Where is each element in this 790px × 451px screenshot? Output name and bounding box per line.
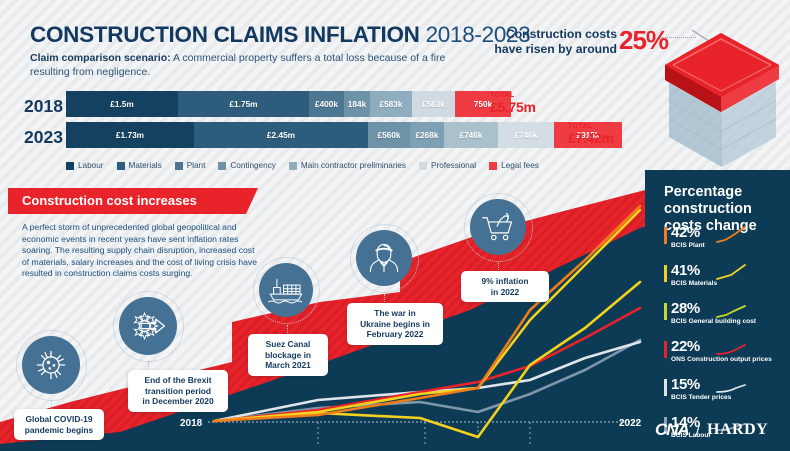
- timeline-callout-ukraine[interactable]: The war in Ukraine begins in February 20…: [347, 303, 443, 345]
- soldier-icon: [356, 230, 412, 286]
- stat-color-bar-plant: [664, 227, 667, 244]
- bar-segment-professional-2018: £583k: [412, 91, 455, 117]
- bar-segment-contingency-2023: £268k: [410, 122, 444, 148]
- legend-swatch-professional: [419, 162, 427, 170]
- brand-logo: CNA / HARDY: [655, 420, 768, 440]
- legend-item-preliminaries: Main contractor preliminaries: [289, 161, 406, 170]
- timeline-callout-brexit[interactable]: End of the Brexit transition period in D…: [128, 370, 228, 412]
- bar-segment-materials-2023: £2.45m: [194, 122, 368, 148]
- legend-swatch-legal: [489, 162, 497, 170]
- stat-percent-general-building: 28%: [671, 300, 700, 317]
- timeline-callout-suez[interactable]: Suez Canal blockage in March 2021: [248, 334, 328, 376]
- bar-year-label-2023: 2023: [24, 127, 63, 148]
- legend-item-plant: Plant: [175, 161, 206, 170]
- legend-label-legal: Legal fees: [501, 161, 539, 170]
- cost-increases-heading: Construction cost increases: [22, 193, 197, 208]
- bar-segment-preliminaries-2018: £583k: [370, 91, 412, 117]
- timeline-callout-inflation[interactable]: 9% inflation in 2022: [461, 271, 549, 302]
- bar-segment-professional-2023: £746k: [498, 122, 554, 148]
- legend-label-materials: Materials: [129, 161, 162, 170]
- cost-increases-body: A perfect storm of unprecedented global …: [22, 222, 260, 280]
- timeline-node-ukraine[interactable]: [350, 224, 420, 294]
- legend-swatch-preliminaries: [289, 162, 297, 170]
- eu-arrow-icon: [119, 297, 177, 355]
- infographic-canvas: 2018 2022 CONSTRUCTION CLAIMS INFLATION …: [0, 0, 790, 451]
- stat-color-bar-general-building: [664, 303, 667, 320]
- page-title: CONSTRUCTION CLAIMS INFLATION 2018-2023: [30, 22, 500, 48]
- legend-label-preliminaries: Main contractor preliminaries: [301, 161, 406, 170]
- legend-label-contingency: Contingency: [230, 161, 276, 170]
- bar-total-label-2023: TOTAL: [568, 123, 614, 130]
- bar-total-label-2018: TOTAL: [490, 92, 536, 99]
- stat-sparkline-tender-prices: [716, 382, 746, 395]
- legend-item-materials: Materials: [117, 161, 162, 170]
- stat-percent-plant: 42%: [671, 224, 700, 241]
- stat-sparkline-general-building: [716, 304, 746, 320]
- stacked-bar-2018: £1.5m £1.75m £400k 184k £583k £583k 750k: [66, 91, 511, 117]
- logo-separator: /: [696, 422, 700, 439]
- bar-total-value-2018: £5.75m: [490, 99, 536, 115]
- shopping-cart-icon: [470, 199, 526, 255]
- stat-label-tender-prices: BCIS Tender prices: [671, 394, 731, 401]
- axis-label-2018: 2018: [180, 418, 202, 429]
- bar-segment-preliminaries-2023: £746k: [444, 122, 498, 148]
- bar-segment-materials-2018: £1.75m: [178, 91, 309, 117]
- page-title-main: CONSTRUCTION CLAIMS INFLATION: [30, 22, 420, 47]
- bar-segment-plant-2023: £560k: [368, 122, 410, 148]
- legend-swatch-labour: [66, 162, 74, 170]
- costs-risen-statement: Construction costs have risen by around: [487, 27, 617, 56]
- stacked-bar-2023: £1.73m £2.45m £560k £268k £746k £746k £9…: [66, 122, 622, 148]
- bar-total-2018: TOTAL £5.75m: [490, 92, 536, 115]
- legend-item-contingency: Contingency: [218, 161, 276, 170]
- timeline-node-inflation[interactable]: [464, 193, 534, 263]
- hardy-logo-text: HARDY: [707, 421, 768, 439]
- bar-chart-legend: Labour Materials Plant Contingency Main …: [66, 161, 552, 170]
- legend-swatch-contingency: [218, 162, 226, 170]
- stat-percent-ons-output: 22%: [671, 338, 700, 355]
- bar-year-label-2018: 2018: [24, 96, 63, 117]
- axis-label-2022: 2022: [619, 418, 641, 429]
- timeline-node-brexit[interactable]: [113, 291, 185, 363]
- bar-segment-plant-2018: £400k: [309, 91, 344, 117]
- isometric-blocks-graphic: [655, 25, 790, 185]
- stat-percent-tender-prices: 15%: [671, 376, 700, 393]
- bar-segment-labour-2018: £1.5m: [66, 91, 178, 117]
- stat-sparkline-ons-output: [716, 343, 746, 357]
- bar-segment-contingency-2018: 184k: [344, 91, 370, 117]
- stat-label-materials: BCIS Materials: [671, 280, 717, 287]
- timeline-callout-covid[interactable]: Global COVID-19 pandemic begins: [14, 409, 104, 440]
- legend-label-plant: Plant: [187, 161, 206, 170]
- legend-swatch-materials: [117, 162, 125, 170]
- legend-item-professional: Professional: [419, 161, 476, 170]
- stat-sparkline-plant: [716, 226, 746, 244]
- legend-item-labour: Labour: [66, 161, 104, 170]
- stat-label-ons-output: ONS Construction output prices: [671, 356, 772, 363]
- container-ship-icon: [259, 263, 313, 317]
- stat-percent-materials: 41%: [671, 262, 700, 279]
- timeline-node-covid[interactable]: [16, 330, 88, 402]
- timeline-node-suez[interactable]: [253, 257, 321, 325]
- bar-total-value-2023: £7.42m: [568, 130, 614, 146]
- stat-sparkline-materials: [716, 264, 746, 282]
- bar-total-2023: TOTAL £7.42m: [568, 123, 614, 146]
- stat-label-plant: BCIS Plant: [671, 242, 705, 249]
- stat-color-bar-ons-output: [664, 341, 667, 358]
- legend-label-professional: Professional: [431, 161, 476, 170]
- legend-label-labour: Labour: [78, 161, 104, 170]
- legend-item-legal: Legal fees: [489, 161, 539, 170]
- stat-color-bar-materials: [664, 265, 667, 282]
- legend-swatch-plant: [175, 162, 183, 170]
- stat-color-bar-tender-prices: [664, 379, 667, 396]
- bar-segment-labour-2023: £1.73m: [66, 122, 194, 148]
- virus-icon: [22, 336, 80, 394]
- cna-logo-text: CNA: [655, 420, 689, 440]
- subtitle-label: Claim comparison scenario:: [30, 52, 171, 64]
- subtitle: Claim comparison scenario: A commercial …: [30, 52, 460, 79]
